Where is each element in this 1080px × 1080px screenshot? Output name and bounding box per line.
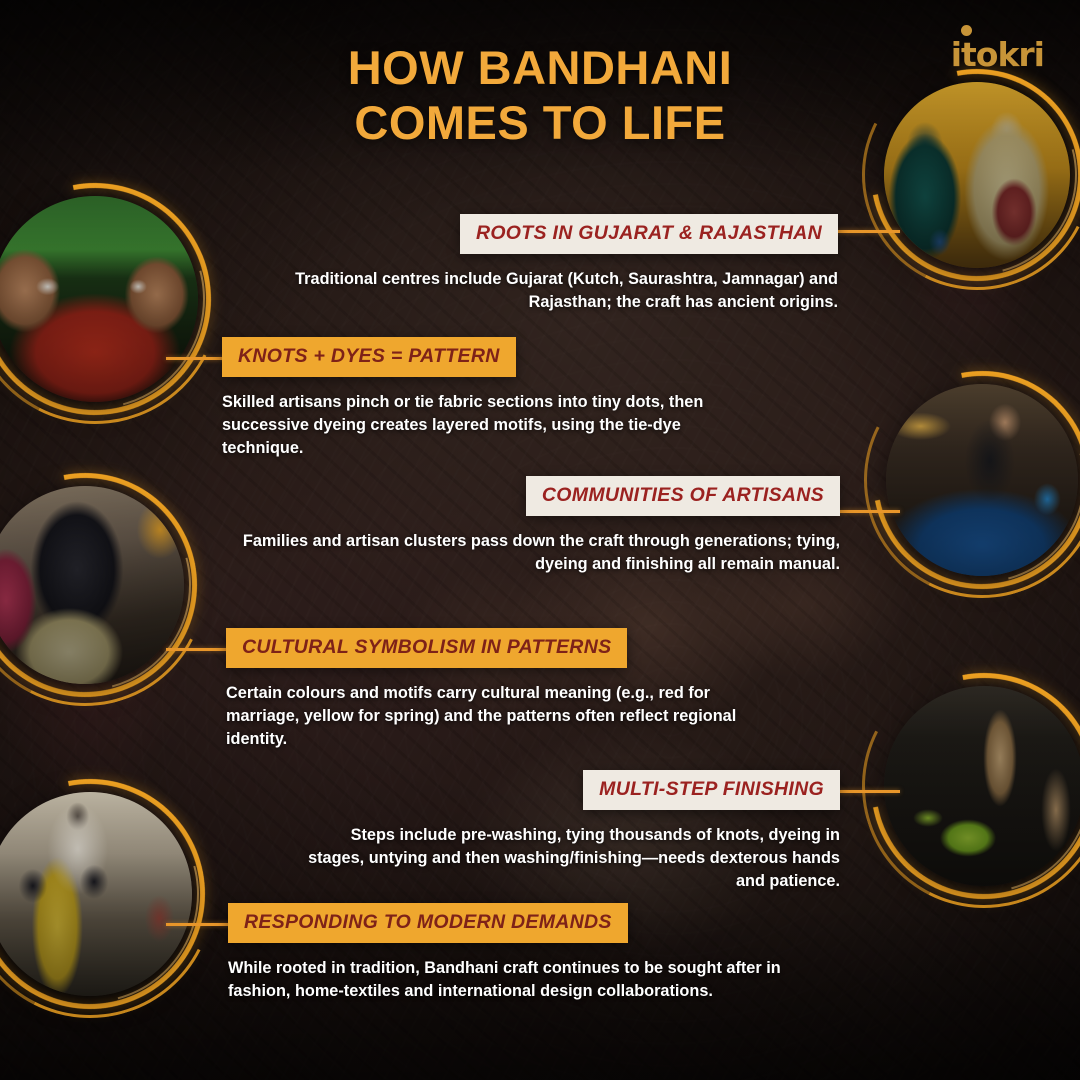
section-heading-knots-dyes[interactable]: KNOTS + DYES = PATTERN — [222, 337, 516, 377]
section-body-communities: Families and artisan clusters pass down … — [240, 530, 840, 576]
section-roots: ROOTS IN GUJARAT & RAJASTHAN Traditional… — [278, 214, 838, 314]
section-heading-communities[interactable]: COMMUNITIES OF ARTISANS — [526, 476, 840, 516]
photo-dyer-blue-vat — [886, 384, 1078, 576]
section-heading-modern-demands[interactable]: RESPONDING TO MODERN DEMANDS — [228, 903, 628, 943]
connector-communities — [838, 510, 900, 513]
logo-dot-icon — [961, 25, 972, 36]
photo-dyer-yellow — [0, 792, 192, 996]
section-knots-dyes: KNOTS + DYES = PATTERN Skilled artisans … — [222, 337, 762, 459]
section-heading-finishing[interactable]: MULTI-STEP FINISHING — [583, 770, 840, 810]
photo-dye-vat-topview — [884, 686, 1080, 886]
section-modern-demands: RESPONDING TO MODERN DEMANDS While roote… — [228, 903, 788, 1003]
page-title: HOW BANDHANI COMES TO LIFE — [0, 40, 1080, 151]
section-communities: COMMUNITIES OF ARTISANS Families and art… — [240, 476, 840, 576]
connector-symbolism — [166, 648, 230, 651]
section-body-knots-dyes: Skilled artisans pinch or tie fabric sec… — [222, 391, 762, 459]
section-body-roots: Traditional centres include Gujarat (Kut… — [278, 268, 838, 314]
section-body-modern-demands: While rooted in tradition, Bandhani craf… — [228, 957, 788, 1003]
connector-finishing — [838, 790, 900, 793]
connector-modern — [166, 923, 230, 926]
photo-image — [0, 486, 184, 684]
brand-logo[interactable]: itokri — [951, 38, 1044, 71]
section-finishing: MULTI-STEP FINISHING Steps include pre-w… — [300, 770, 840, 892]
section-symbolism: CULTURAL SYMBOLISM IN PATTERNS Certain c… — [226, 628, 776, 750]
section-body-symbolism: Certain colours and motifs carry cultura… — [226, 682, 776, 750]
connector-roots — [836, 230, 900, 233]
photo-image — [884, 686, 1080, 886]
page-title-line-2: COMES TO LIFE — [0, 95, 1080, 150]
brand-logo-text: itokri — [951, 38, 1044, 71]
photo-image — [0, 196, 198, 402]
photo-image — [886, 384, 1078, 576]
section-heading-symbolism[interactable]: CULTURAL SYMBOLISM IN PATTERNS — [226, 628, 627, 668]
photo-woman-seated — [0, 486, 184, 684]
page-title-line-1: HOW BANDHANI — [0, 40, 1080, 95]
infographic-canvas: HOW BANDHANI COMES TO LIFE itokri — [0, 0, 1080, 1080]
photo-hands-knotting — [0, 196, 198, 402]
photo-image — [0, 792, 192, 996]
connector-knots — [166, 357, 228, 360]
section-body-finishing: Steps include pre-washing, tying thousan… — [300, 824, 840, 892]
section-heading-roots[interactable]: ROOTS IN GUJARAT & RAJASTHAN — [460, 214, 838, 254]
